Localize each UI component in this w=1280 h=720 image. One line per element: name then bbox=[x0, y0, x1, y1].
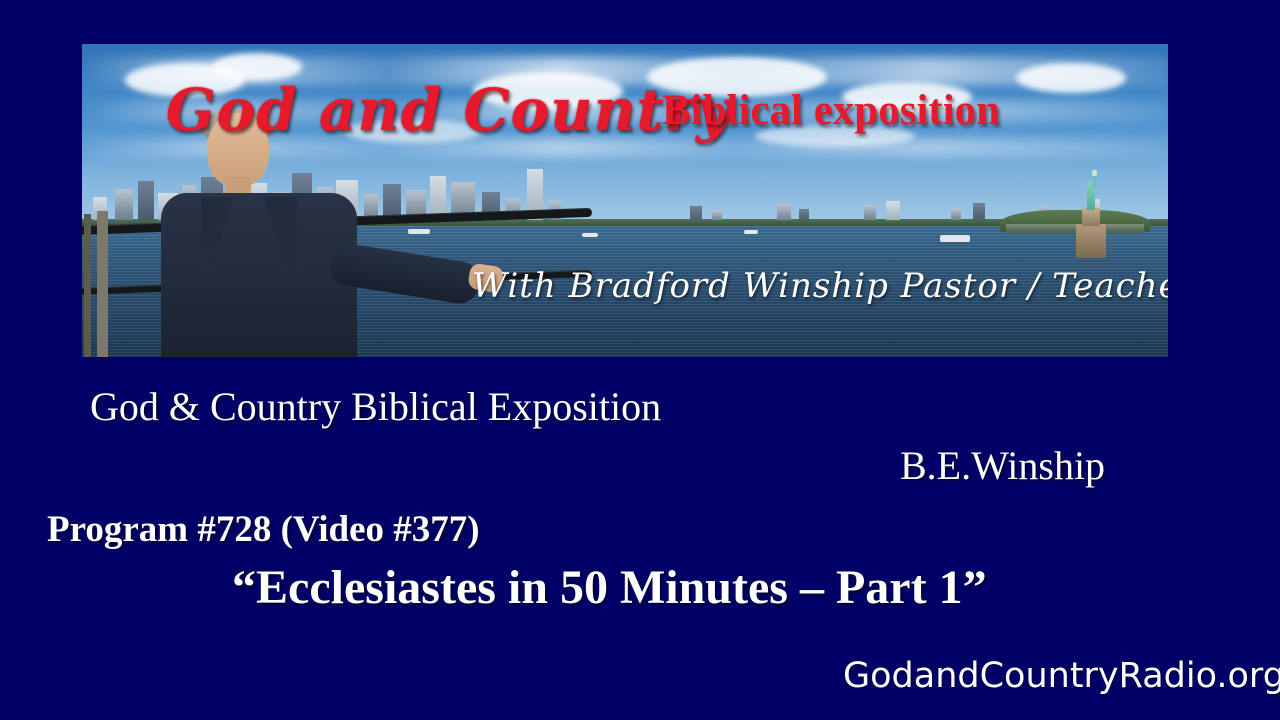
author-name: B.E.Winship bbox=[900, 442, 1105, 489]
episode-title: “Ecclesiastes in 50 Minutes – Part 1” bbox=[232, 560, 987, 615]
title-slide: God and Country Biblical exposition With… bbox=[0, 0, 1280, 720]
banner-tagline: With Bradford Winship Pastor / Teacher bbox=[472, 266, 1168, 306]
program-number: Program #728 (Video #377) bbox=[47, 508, 480, 551]
boat bbox=[744, 230, 758, 234]
program-banner-image: God and Country Biblical exposition With… bbox=[82, 44, 1168, 357]
host-portrait bbox=[153, 113, 363, 357]
boat bbox=[940, 235, 970, 242]
banner-brand-subtitle: Biblical exposition bbox=[662, 86, 1000, 135]
statue-of-liberty-icon bbox=[1074, 172, 1108, 258]
program-title: God & Country Biblical Exposition bbox=[90, 383, 661, 430]
banner-brand-script: God and Country bbox=[166, 76, 731, 144]
one-world-trade-tower bbox=[527, 169, 543, 222]
website-url: GodandCountryRadio.org bbox=[843, 656, 1280, 696]
boat bbox=[582, 233, 598, 237]
boat bbox=[408, 229, 430, 234]
cloud bbox=[1016, 63, 1126, 93]
